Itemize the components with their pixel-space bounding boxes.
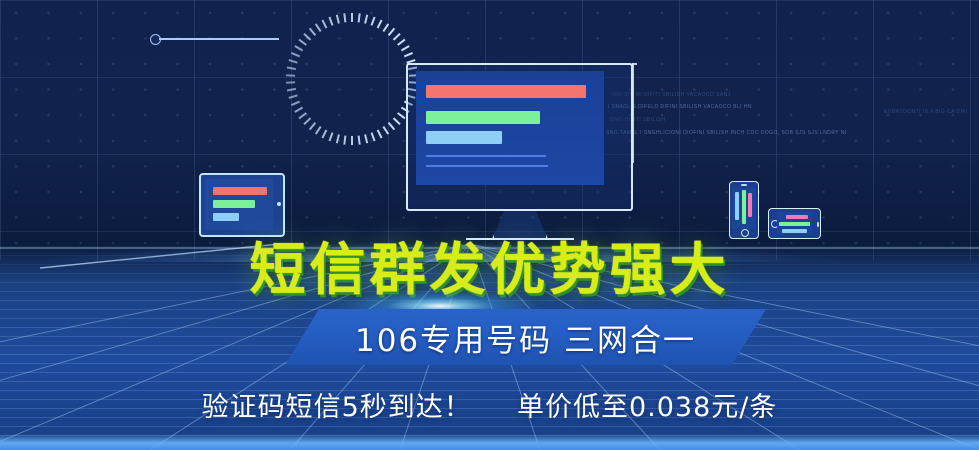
decor-text-line: SNG TAMEL I SNGHLICIONI DIOFINI SBILISH … [606, 130, 847, 136]
node-dot-icon [150, 34, 161, 45]
tablet-home-button-icon [277, 202, 281, 206]
monitor-content-line [426, 165, 548, 167]
subtitle-right: 单价低至0.038元/条 [517, 392, 777, 423]
monitor-screen [416, 71, 604, 185]
headline: 短信群发优势强大 [0, 243, 979, 299]
bottom-edge-glow [0, 434, 979, 450]
monitor-side-divider [632, 63, 634, 163]
phone-portrait-device [729, 181, 759, 239]
phone-content-bar [735, 192, 739, 220]
node-line [159, 38, 279, 40]
subtitle: 验证码短信5秒到达！ 单价低至0.038元/条 [0, 385, 979, 424]
phone-landscape-device [768, 208, 821, 239]
monitor-stand [492, 211, 548, 239]
tablet-screen [205, 179, 273, 230]
phone-landscape-content-bar [782, 229, 807, 233]
subtitle-left: 验证码短信5秒到达！ [202, 392, 472, 423]
desktop-monitor [406, 63, 633, 211]
tablet-device [199, 173, 285, 237]
ribbon-banner: 106专用号码 三网合一 [285, 309, 766, 365]
monitor-side-divider-top [632, 63, 637, 65]
phone-speaker-icon [741, 184, 747, 186]
connector-node [150, 33, 280, 43]
phone-home-button-icon [741, 229, 749, 237]
phone-content-bar [748, 193, 752, 217]
tablet-content-bar [213, 187, 267, 195]
monitor-content-bar [426, 111, 540, 124]
phone-landscape-content-bar [779, 222, 810, 226]
decor-text-line: EVERYDONTI IS A BIG CA DIFI [884, 109, 968, 115]
promo-banner: ORI SIN MI DIFITI SBILISH VACAOCO SANJI … [0, 0, 979, 450]
monitor-stand-leg [492, 211, 548, 239]
monitor-content-bar [426, 131, 502, 144]
phone-landscape-screen [777, 212, 812, 234]
phone-landscape-speaker-icon [817, 222, 819, 227]
ribbon-label: 106专用号码 三网合一 [355, 315, 696, 360]
tablet-content-bar [213, 200, 255, 208]
phone-portrait-screen [732, 188, 755, 229]
monitor-content-bar [426, 85, 586, 98]
phone-content-bar [742, 190, 746, 224]
phone-landscape-content-bar [786, 215, 808, 219]
monitor-content-line [426, 155, 546, 157]
radial-dial-graphic [283, 10, 421, 148]
tablet-content-bar [213, 213, 239, 221]
